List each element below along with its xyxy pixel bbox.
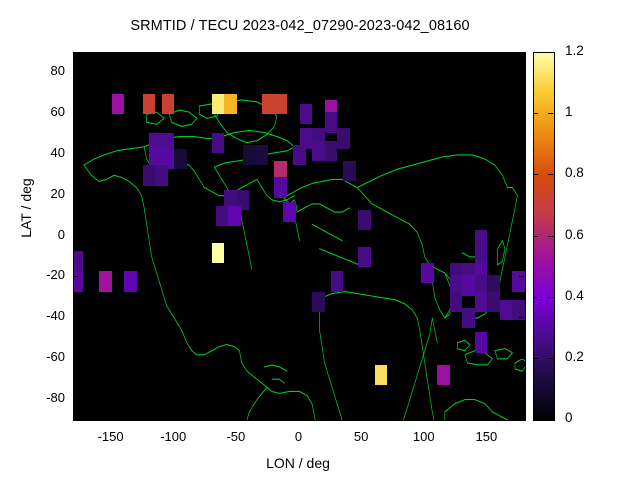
- data-cell: [124, 271, 137, 291]
- data-cell: [343, 161, 356, 181]
- data-cell: [312, 141, 325, 161]
- colorbar-tick: [548, 52, 553, 53]
- x-tick-label: 50: [331, 429, 391, 444]
- data-cell: [224, 94, 237, 114]
- data-cell: [262, 94, 275, 114]
- data-cell: [500, 300, 513, 320]
- colorbar-tick-label: 0: [565, 410, 573, 425]
- x-tick: [486, 414, 487, 419]
- data-cell: [74, 271, 83, 291]
- y-tick: [519, 113, 524, 114]
- data-cell: [325, 112, 338, 132]
- data-cell: [512, 271, 525, 291]
- y-tick: [519, 276, 524, 277]
- chart-root: SRMTID / TECU 2023-042_07290-2023-042_08…: [0, 0, 640, 480]
- y-tick-label: 60: [19, 104, 65, 119]
- data-cell: [274, 177, 287, 197]
- colorbar-tick: [533, 297, 538, 298]
- y-tick: [519, 72, 524, 73]
- y-tick: [73, 72, 78, 73]
- data-cell-layer: [74, 53, 525, 420]
- colorbar-tick: [533, 174, 538, 175]
- data-cell: [337, 128, 350, 148]
- x-tick: [236, 414, 237, 419]
- y-tick-label: -40: [19, 308, 65, 323]
- y-tick: [73, 236, 78, 237]
- colorbar-tick-label: 1.2: [565, 43, 584, 58]
- y-tick: [73, 113, 78, 114]
- colorbar-tick: [548, 113, 553, 114]
- x-axis-title: LON / deg: [198, 455, 398, 471]
- colorbar-tick: [533, 52, 538, 53]
- data-cell: [293, 145, 306, 165]
- colorbar-tick: [548, 236, 553, 237]
- x-tick: [299, 52, 300, 57]
- y-tick: [519, 154, 524, 155]
- map-plot-area: [73, 52, 526, 421]
- chart-title: SRMTID / TECU 2023-042_07290-2023-042_08…: [0, 18, 600, 34]
- y-tick-label: -80: [19, 390, 65, 405]
- data-cell: [143, 165, 156, 185]
- y-tick: [519, 195, 524, 196]
- data-cell: [475, 292, 488, 312]
- x-tick: [111, 52, 112, 57]
- y-tick: [73, 358, 78, 359]
- colorbar-tick-label: 1: [565, 104, 573, 119]
- x-tick-label: -50: [206, 429, 266, 444]
- data-cell: [331, 271, 344, 291]
- x-tick: [361, 52, 362, 57]
- data-cell: [143, 94, 156, 114]
- colorbar-tick: [548, 297, 553, 298]
- data-cell: [437, 365, 450, 385]
- x-tick-label: 0: [269, 429, 329, 444]
- x-tick: [236, 52, 237, 57]
- colorbar-tick: [533, 236, 538, 237]
- colorbar-gradient: [534, 53, 554, 420]
- data-cell: [155, 165, 168, 185]
- data-cell: [325, 141, 338, 161]
- data-cell: [283, 202, 296, 222]
- x-tick: [299, 414, 300, 419]
- y-tick-label: -20: [19, 267, 65, 282]
- x-tick: [424, 52, 425, 57]
- colorbar-tick: [548, 174, 553, 175]
- data-cell: [375, 365, 388, 385]
- colorbar-tick-label: 0.2: [565, 349, 584, 364]
- y-axis-title: LAT / deg: [18, 148, 34, 268]
- data-cell: [212, 133, 225, 153]
- data-cell: [450, 292, 463, 312]
- map-canvas: [74, 53, 525, 420]
- data-cell: [243, 145, 256, 165]
- data-cell: [300, 104, 313, 124]
- data-cell: [487, 292, 500, 312]
- data-cell: [216, 206, 229, 226]
- x-tick-label: -150: [81, 429, 141, 444]
- data-cell: [228, 206, 241, 226]
- x-tick-label: 150: [456, 429, 516, 444]
- x-tick: [424, 414, 425, 419]
- data-cell: [162, 94, 175, 114]
- data-cell: [358, 247, 371, 267]
- y-tick: [519, 236, 524, 237]
- x-tick: [361, 414, 362, 419]
- data-cell: [212, 243, 225, 263]
- x-tick: [173, 52, 174, 57]
- colorbar-tick: [548, 358, 553, 359]
- y-tick-label: -60: [19, 349, 65, 364]
- x-tick: [486, 52, 487, 57]
- data-cell: [421, 263, 434, 283]
- colorbar-tick: [533, 419, 538, 420]
- x-tick-label: -100: [143, 429, 203, 444]
- y-tick: [73, 154, 78, 155]
- data-cell: [312, 292, 325, 312]
- y-tick-label: 80: [19, 63, 65, 78]
- data-cell: [274, 94, 287, 114]
- colorbar-tick-label: 0.8: [565, 165, 584, 180]
- colorbar-tick: [533, 113, 538, 114]
- data-cell: [358, 210, 371, 230]
- data-cell: [212, 94, 225, 114]
- data-cell: [462, 275, 475, 295]
- x-tick: [173, 414, 174, 419]
- x-tick: [111, 414, 112, 419]
- y-tick: [73, 399, 78, 400]
- y-tick: [73, 317, 78, 318]
- y-tick: [73, 195, 78, 196]
- colorbar-tick-label: 0.4: [565, 288, 584, 303]
- data-cell: [256, 145, 269, 165]
- data-cell: [99, 271, 112, 291]
- y-tick: [73, 276, 78, 277]
- y-tick: [519, 399, 524, 400]
- data-cell: [174, 149, 187, 169]
- data-cell: [475, 332, 488, 352]
- colorbar-tick-label: 0.6: [565, 227, 584, 242]
- x-tick-label: 100: [394, 429, 454, 444]
- colorbar: [533, 52, 555, 421]
- data-cell: [74, 251, 83, 271]
- colorbar-tick: [548, 419, 553, 420]
- y-tick: [519, 317, 524, 318]
- y-tick: [519, 358, 524, 359]
- data-cell: [462, 308, 475, 328]
- colorbar-tick: [533, 358, 538, 359]
- data-cell: [112, 94, 125, 114]
